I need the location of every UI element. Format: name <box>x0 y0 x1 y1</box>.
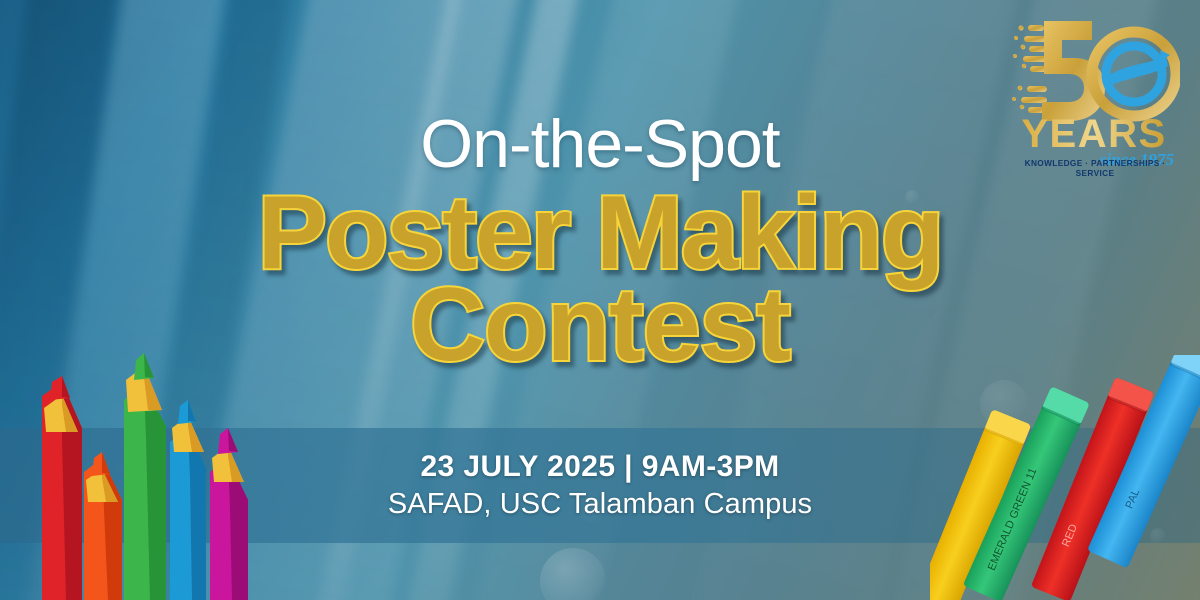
pencil-blue <box>170 400 206 600</box>
crayons-illustration: EMERALD GREEN 11 RED PAL <box>930 355 1200 600</box>
logo-motion-dots <box>1012 25 1048 113</box>
logo-tagline: KNOWLEDGE · PARTNERSHIPS · SERVICE <box>1010 158 1180 178</box>
event-banner: On-the-Spot Poster Making Contest 23 JUL… <box>0 0 1200 600</box>
colored-pencils-illustration <box>0 350 290 600</box>
pencil-magenta <box>210 428 248 600</box>
pencil-green <box>124 353 166 600</box>
fifty-years-logo: YEARS since 1975 KNOWLEDGE · PARTNERSHIP… <box>1010 14 1180 179</box>
logo-graphic: YEARS since 1975 <box>1010 14 1180 179</box>
event-date-time: 23 JULY 2025 | 9AM-3PM <box>420 450 779 483</box>
event-venue: SAFAD, USC Talamban Campus <box>388 489 812 521</box>
pencil-orange <box>84 452 122 600</box>
logo-globe-icon <box>1104 46 1170 102</box>
bokeh-circle <box>540 548 606 600</box>
pencil-red <box>42 376 82 600</box>
